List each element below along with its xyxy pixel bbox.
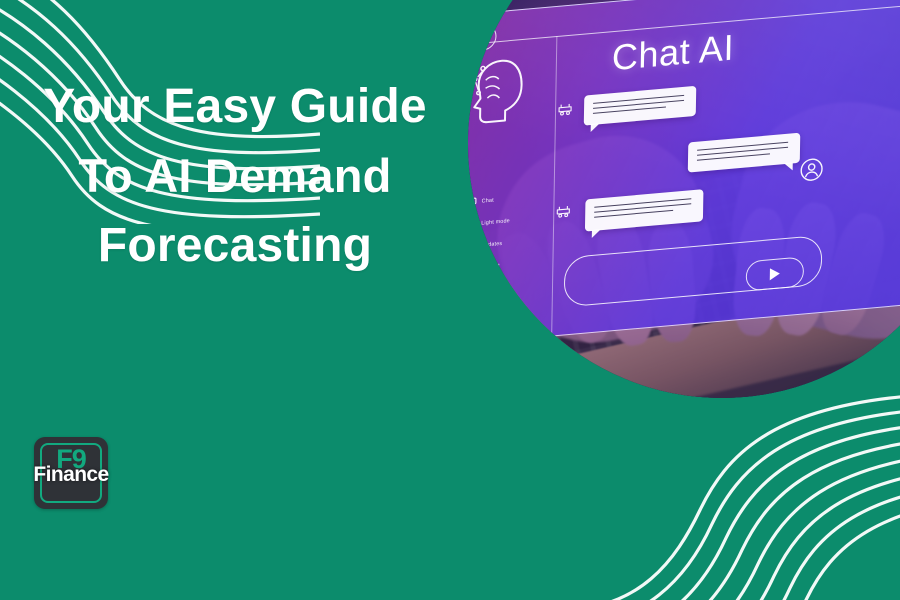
updates-icon [468, 241, 476, 251]
chat-ai-hologram-panel: Chat AI Chat Light mode [468, 0, 900, 345]
logout-icon [468, 263, 476, 273]
menu-item-light-mode[interactable]: Light mode [468, 208, 555, 233]
message-source-icon [555, 205, 571, 218]
user-avatar-icon [799, 157, 823, 183]
menu-item-label: Log out [480, 263, 499, 271]
title-line-2: To AI Demand [0, 142, 470, 211]
logo-wordmark: Finance [30, 464, 112, 485]
message-source-icon [557, 103, 573, 116]
menu-item-label: Light mode [481, 218, 510, 227]
menu-item-label: Updates [481, 240, 503, 248]
title-line-3: Forecasting [0, 211, 470, 281]
page-title: Your Easy Guide To AI Demand Forecasting [0, 72, 470, 281]
menu-item-log-out[interactable]: Log out [468, 252, 555, 277]
send-play-icon [770, 267, 780, 280]
menu-item-label: Chat [482, 197, 494, 204]
sun-icon [468, 219, 476, 229]
menu-item-updates[interactable]: Updates [468, 230, 555, 255]
title-line-1: Your Easy Guide [0, 72, 470, 142]
brand-logo[interactable]: F9 Finance [34, 437, 108, 509]
ai-head-brain-icon [468, 51, 528, 129]
hero-photo: Chat AI Chat Light mode [468, 0, 900, 398]
chat-icon [468, 197, 477, 207]
panel-sidebar-menu: Chat Light mode Updates [468, 186, 556, 282]
